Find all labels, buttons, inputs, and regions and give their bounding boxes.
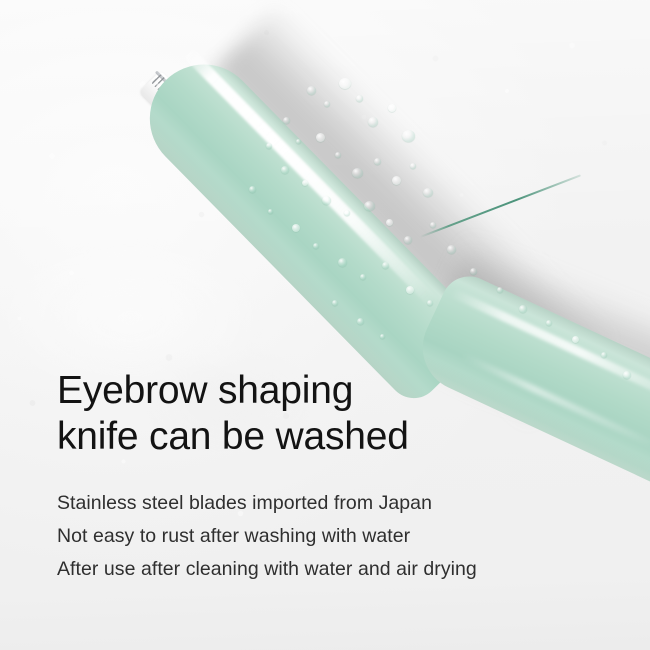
product-image-canvas: Eyebrow shaping knife can be washed Stai… (0, 0, 650, 650)
feature-list: Stainless steel blades imported from Jap… (57, 487, 617, 586)
page-title: Eyebrow shaping knife can be washed (57, 368, 617, 460)
feature-item: After use after cleaning with water and … (57, 553, 617, 586)
feature-item: Not easy to rust after washing with wate… (57, 520, 617, 553)
marketing-copy: Eyebrow shaping knife can be washed Stai… (57, 368, 617, 586)
headline-line-2: knife can be washed (57, 415, 409, 458)
headline-line-1: Eyebrow shaping (57, 369, 353, 412)
feature-item: Stainless steel blades imported from Jap… (57, 487, 617, 520)
